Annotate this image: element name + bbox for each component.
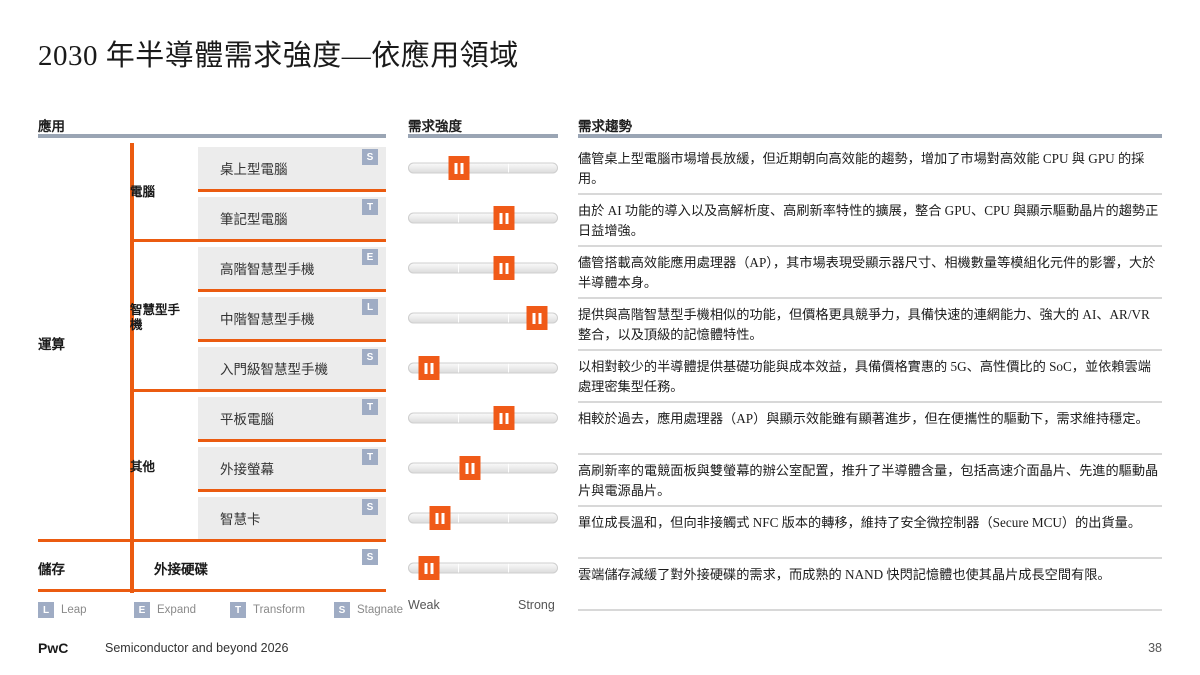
- demand-trend-row: 以相對較少的半導體提供基礎功能與成本效益，具備價格實惠的 5G、高性價比的 So…: [578, 351, 1162, 403]
- application-subgroup-label: 智慧型手機: [130, 243, 192, 393]
- matrix-row-separator: [198, 339, 386, 342]
- demand-trend-row: 單位成長溫和，但向非接觸式 NFC 版本的轉移，維持了安全微控制器（Secure…: [578, 507, 1162, 559]
- intensity-slider-handle[interactable]: [419, 556, 440, 580]
- intensity-slider-handle[interactable]: [448, 156, 469, 180]
- intensity-slider-track[interactable]: [408, 163, 558, 174]
- application-item-cell[interactable]: 筆記型電腦T: [198, 197, 386, 239]
- intensity-slider-handle[interactable]: [419, 356, 440, 380]
- slider-tick: [458, 514, 459, 523]
- matrix-row-separator: [130, 239, 386, 242]
- application-item-cell[interactable]: 外接硬碟S: [140, 547, 386, 589]
- application-item-label: 平板電腦: [220, 408, 274, 428]
- trend-code-badge: S: [362, 349, 378, 365]
- intensity-slider-track[interactable]: [408, 463, 558, 474]
- intensity-slider-row: [408, 393, 558, 443]
- legend-code-badge: S: [334, 602, 350, 618]
- demand-trend-row: 相較於過去，應用處理器（AP）與顯示效能雖有顯著進步，但在便攜性的驅動下，需求維…: [578, 403, 1162, 455]
- demand-trend-text: 相較於過去，應用處理器（AP）與顯示效能雖有顯著進步，但在便攜性的驅動下，需求維…: [578, 403, 1162, 435]
- demand-trend-text: 儘管桌上型電腦市場增長放緩，但近期朝向高效能的趨勢，增加了市場對高效能 CPU …: [578, 143, 1162, 196]
- subgroup-accent-bar: [130, 543, 134, 593]
- intensity-slider-handle[interactable]: [494, 256, 515, 280]
- intensity-slider-handle[interactable]: [430, 506, 451, 530]
- demand-trend-text: 儘管搭載高效能應用處理器（AP），其市場表現受顯示器尺寸、相機數量等模組化元件的…: [578, 247, 1162, 300]
- column-rule-application: [38, 134, 386, 138]
- demand-trend-row: 提供與高階智慧型手機相似的功能，但價格更具競爭力，具備快速的連網能力、強大的 A…: [578, 299, 1162, 351]
- legend-item: EExpand: [134, 602, 196, 618]
- legend-code-badge: E: [134, 602, 150, 618]
- intensity-slider-row: [408, 543, 558, 593]
- application-item-label: 筆記型電腦: [220, 208, 288, 228]
- intensity-slider-row: [408, 493, 558, 543]
- demand-trend-text: 高刷新率的電競面板與雙螢幕的辦公室配置，推升了半導體含量，包括高速介面晶片、先進…: [578, 455, 1162, 508]
- application-subgroup-label: 其他: [130, 393, 192, 543]
- intensity-slider-row: [408, 193, 558, 243]
- demand-trend-list: 儘管桌上型電腦市場增長放緩，但近期朝向高效能的趨勢，增加了市場對高效能 CPU …: [578, 143, 1162, 611]
- application-item-label: 高階智慧型手機: [220, 258, 315, 278]
- footer-text: Semiconductor and beyond 2026: [105, 641, 288, 655]
- demand-trend-row: 由於 AI 功能的導入以及高解析度、高刷新率特性的擴展，整合 GPU、CPU 與…: [578, 195, 1162, 247]
- demand-trend-row: 儘管桌上型電腦市場增長放緩，但近期朝向高效能的趨勢，增加了市場對高效能 CPU …: [578, 143, 1162, 195]
- slider-tick: [458, 364, 459, 373]
- slider-tick: [458, 414, 459, 423]
- intensity-slider-row: [408, 143, 558, 193]
- scale-label-weak: Weak: [408, 598, 440, 612]
- slider-tick: [508, 314, 509, 323]
- matrix-row-separator: [38, 539, 386, 542]
- legend-label: Expand: [157, 604, 196, 616]
- column-rule-trend: [578, 134, 1162, 138]
- legend-code-badge: T: [230, 602, 246, 618]
- trend-code-badge: T: [362, 449, 378, 465]
- application-item-label: 智慧卡: [220, 508, 261, 528]
- intensity-slider-row: [408, 343, 558, 393]
- application-group-label: 儲存: [38, 543, 120, 593]
- intensity-slider-handle[interactable]: [494, 206, 515, 230]
- application-item-cell[interactable]: 高階智慧型手機E: [198, 247, 386, 289]
- application-item-cell[interactable]: 中階智慧型手機L: [198, 297, 386, 339]
- application-item-label: 入門級智慧型手機: [220, 358, 328, 378]
- application-subgroup-label: 電腦: [130, 143, 192, 243]
- matrix-row-separator: [198, 439, 386, 442]
- intensity-slider-row: [408, 443, 558, 493]
- legend-label: Leap: [61, 604, 87, 616]
- application-matrix: 桌上型電腦S筆記型電腦T高階智慧型手機E中階智慧型手機L入門級智慧型手機S平板電…: [38, 143, 386, 593]
- slider-tick: [508, 564, 509, 573]
- intensity-slider-row: [408, 293, 558, 343]
- application-group-label: 運算: [38, 143, 120, 543]
- slider-tick: [508, 464, 509, 473]
- trend-code-badge: T: [362, 199, 378, 215]
- legend: LLeapEExpandTTransformSStagnate: [38, 602, 388, 622]
- trend-code-badge: T: [362, 399, 378, 415]
- column-header-application: 應用: [38, 115, 65, 135]
- footer-brand: PwC: [38, 640, 68, 656]
- trend-code-badge: E: [362, 249, 378, 265]
- demand-trend-text: 以相對較少的半導體提供基礎功能與成本效益，具備價格實惠的 5G、高性價比的 So…: [578, 351, 1162, 404]
- page-title: 2030 年半導體需求強度—依應用領域: [38, 32, 519, 74]
- slider-tick: [458, 564, 459, 573]
- demand-trend-text: 提供與高階智慧型手機相似的功能，但價格更具競爭力，具備快速的連網能力、強大的 A…: [578, 299, 1162, 352]
- application-item-cell[interactable]: 平板電腦T: [198, 397, 386, 439]
- application-item-cell[interactable]: 入門級智慧型手機S: [198, 347, 386, 389]
- demand-trend-row: 儘管搭載高效能應用處理器（AP），其市場表現受顯示器尺寸、相機數量等模組化元件的…: [578, 247, 1162, 299]
- application-item-label: 外接硬碟: [154, 558, 208, 578]
- intensity-slider-handle[interactable]: [459, 456, 480, 480]
- application-item-cell[interactable]: 智慧卡S: [198, 497, 386, 539]
- trend-code-badge: S: [362, 499, 378, 515]
- slider-tick: [458, 214, 459, 223]
- matrix-row-separator: [198, 289, 386, 292]
- application-item-cell[interactable]: 桌上型電腦S: [198, 147, 386, 189]
- column-header-trend: 需求趨勢: [578, 115, 632, 135]
- intensity-slider-row: [408, 243, 558, 293]
- application-item-cell[interactable]: 外接螢幕T: [198, 447, 386, 489]
- legend-label: Transform: [253, 604, 305, 616]
- demand-trend-row: 高刷新率的電競面板與雙螢幕的辦公室配置，推升了半導體含量，包括高速介面晶片、先進…: [578, 455, 1162, 507]
- intensity-slider-handle[interactable]: [494, 406, 515, 430]
- intensity-slider-track[interactable]: [408, 413, 558, 424]
- legend-code-badge: L: [38, 602, 54, 618]
- demand-trend-text: 單位成長溫和，但向非接觸式 NFC 版本的轉移，維持了安全微控制器（Secure…: [578, 507, 1162, 539]
- legend-item: LLeap: [38, 602, 87, 618]
- slider-tick: [508, 164, 509, 173]
- trend-code-badge: S: [362, 149, 378, 165]
- matrix-row-separator: [130, 389, 386, 392]
- legend-label: Stagnate: [357, 604, 403, 616]
- legend-item: SStagnate: [334, 602, 403, 618]
- intensity-slider-track[interactable]: [408, 213, 558, 224]
- application-item-label: 外接螢幕: [220, 458, 274, 478]
- legend-item: TTransform: [230, 602, 305, 618]
- slider-tick: [458, 314, 459, 323]
- scale-label-strong: Strong: [518, 598, 555, 612]
- slider-tick: [508, 514, 509, 523]
- slider-tick: [508, 364, 509, 373]
- application-item-label: 中階智慧型手機: [220, 308, 315, 328]
- column-rule-intensity: [408, 134, 558, 138]
- trend-code-badge: L: [362, 299, 378, 315]
- slider-tick: [458, 264, 459, 273]
- intensity-slider-track[interactable]: [408, 263, 558, 274]
- application-item-label: 桌上型電腦: [220, 158, 288, 178]
- matrix-row-separator: [38, 589, 386, 592]
- demand-trend-row: 雲端儲存減緩了對外接硬碟的需求，而成熟的 NAND 快閃記憶體也使其晶片成長空間…: [578, 559, 1162, 611]
- trend-code-badge: S: [362, 549, 378, 565]
- intensity-slider-handle[interactable]: [526, 306, 547, 330]
- demand-intensity-sliders: [408, 143, 558, 593]
- demand-trend-text: 由於 AI 功能的導入以及高解析度、高刷新率特性的擴展，整合 GPU、CPU 與…: [578, 195, 1162, 248]
- matrix-row-separator: [198, 489, 386, 492]
- matrix-row-separator: [198, 189, 386, 192]
- column-header-intensity: 需求強度: [408, 115, 462, 135]
- footer-page-number: 38: [1148, 641, 1162, 655]
- demand-trend-text: 雲端儲存減緩了對外接硬碟的需求，而成熟的 NAND 快閃記憶體也使其晶片成長空間…: [578, 559, 1162, 591]
